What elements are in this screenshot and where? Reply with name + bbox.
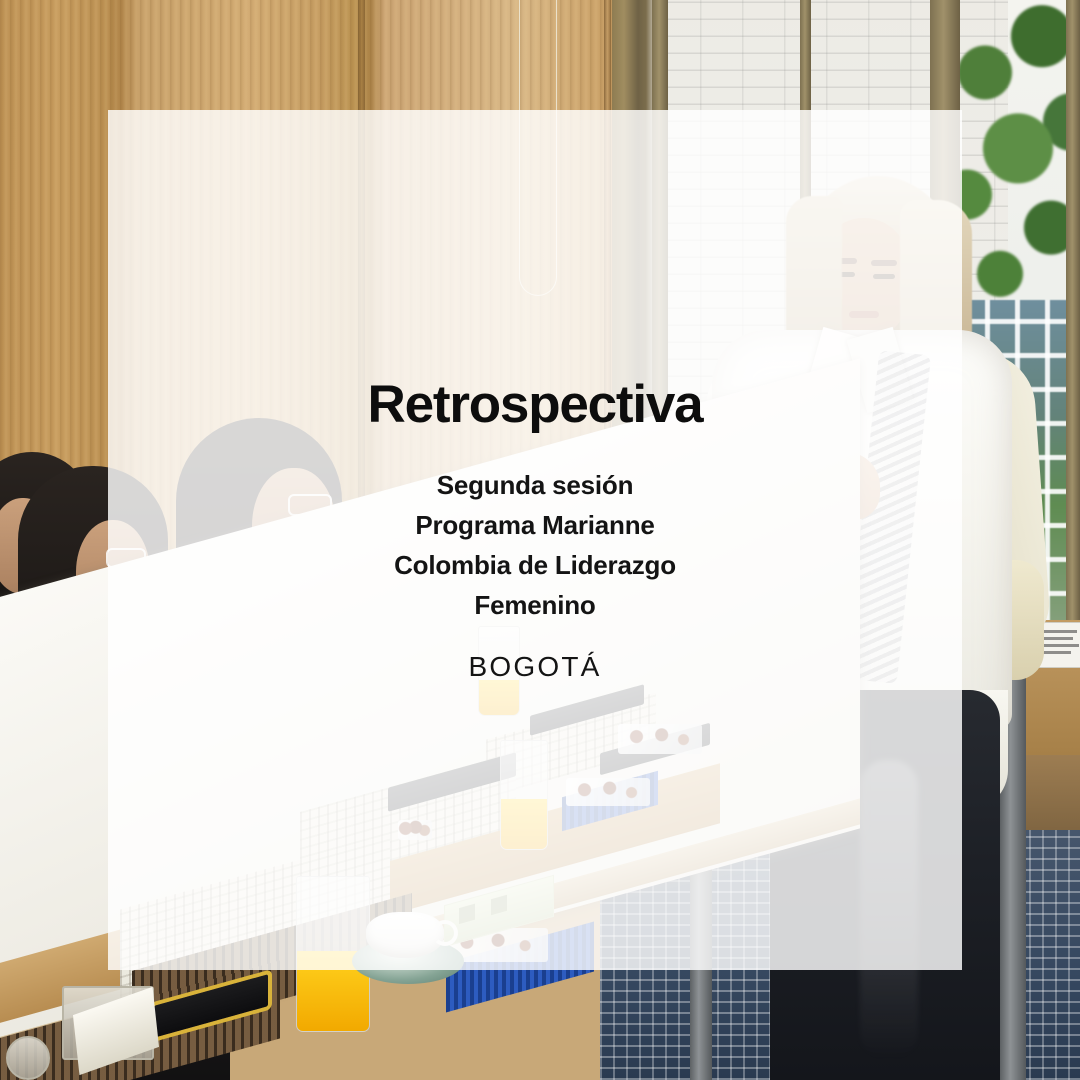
text-block: Retrospectiva Segunda sesión Programa Ma… [108,110,962,970]
subtitle: Segunda sesión Programa Marianne Colombi… [394,465,676,625]
page-title: Retrospectiva [368,378,703,431]
small-dish [6,1036,50,1080]
city-label: BOGOTÁ [469,653,602,681]
window-mullion [1066,0,1080,710]
poster-canvas: Retrospectiva Segunda sesión Programa Ma… [0,0,1080,1080]
subtitle-line: Segunda sesión [394,465,676,505]
subtitle-line: Femenino [394,585,676,625]
subtitle-line: Colombia de Liderazgo [394,545,676,585]
subtitle-line: Programa Marianne [394,505,676,545]
